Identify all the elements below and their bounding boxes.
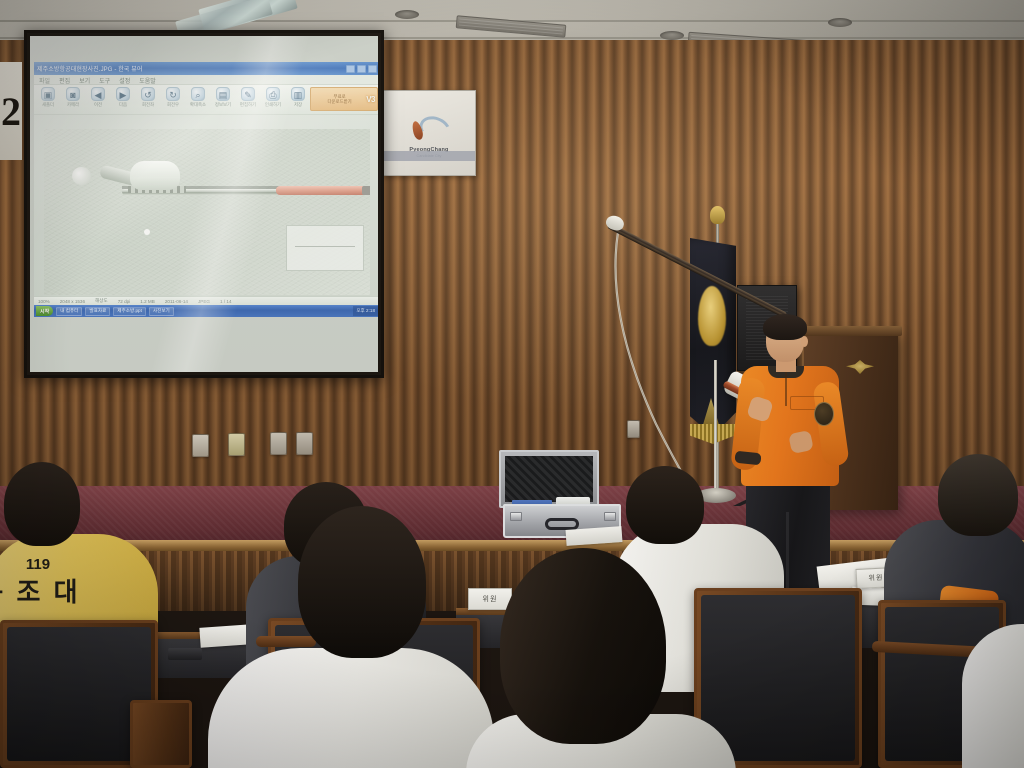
pyeongchang-poster: PyeongChang Candidate City	[382, 90, 476, 176]
probe-end-cap	[362, 186, 370, 195]
ad-line-2: 다운로드받기	[313, 99, 366, 105]
probe-red-section	[276, 186, 370, 195]
toolbar[interactable]: ▣새폴더 ◙카메라 ◀이전 ▶다음 ↺회전좌 ↻회전우 ⌕확대축소 ▤정보보기 …	[34, 85, 378, 115]
menu-item-edit[interactable]: 편집	[59, 76, 70, 84]
jacket-number: 119	[0, 556, 98, 573]
toolbar-button-4[interactable]: ↺회전좌	[136, 87, 160, 108]
print-icon: ⎙	[266, 87, 280, 101]
toolbar-label: 확대축소	[190, 102, 206, 108]
status-bar: 100% 2048 x 1536 해상도 72 dpi 1.2 MB 2011-…	[34, 296, 378, 305]
presenter-hair	[763, 314, 807, 340]
maximize-icon[interactable]	[357, 65, 366, 73]
wall-plate-1[interactable]	[192, 434, 209, 457]
chair-arm-left	[256, 636, 316, 647]
toolbar-button-5[interactable]: ↻회전우	[161, 87, 185, 108]
toolbar-button-7[interactable]: ▤정보보기	[211, 87, 235, 108]
taskbar-item-1[interactable]: 발표자료	[85, 307, 110, 316]
presenter-shoulder-patch-icon	[814, 402, 834, 426]
toolbar-label: 다음	[119, 102, 127, 108]
chair-bottom-left[interactable]	[130, 700, 192, 768]
room-number-sign: 2	[0, 62, 22, 160]
toolbar-button-0[interactable]: ▣새폴더	[36, 87, 60, 108]
status-dimensions: 2048 x 1536	[60, 299, 85, 304]
jacket-label: 구 조 대	[0, 572, 90, 609]
toolbar-button-3[interactable]: ▶다음	[111, 87, 135, 108]
toolbar-label: 카메라	[67, 102, 79, 108]
projected-image: 제주소방항공대현장사진.JPG - 한국 뷰어 파일 편집 보기 도구 설정 도…	[30, 36, 378, 372]
white-shirt	[208, 648, 494, 768]
toolbar-button-8[interactable]: ✎편집하기	[236, 87, 260, 108]
attendee-head	[298, 506, 426, 658]
poster-band	[383, 151, 475, 161]
olympic-bid-logo-icon	[407, 117, 451, 143]
toolbar-label: 편집하기	[240, 102, 256, 108]
rotate-left-icon: ↺	[141, 87, 155, 101]
menu-item-tools[interactable]: 도구	[99, 76, 110, 84]
next-icon: ▶	[116, 87, 130, 101]
window-controls[interactable]	[346, 65, 377, 73]
menu-item-file[interactable]: 파일	[39, 76, 50, 84]
menu-item-settings[interactable]: 설정	[119, 76, 130, 84]
probe-sensor-head	[130, 161, 180, 190]
attendee-head	[626, 466, 704, 544]
window-title: 제주소방항공대현장사진.JPG - 한국 뷰어	[37, 64, 142, 73]
camera-icon: ◙	[66, 87, 80, 101]
recessed-light-icon	[828, 18, 852, 27]
taskbar-item-0[interactable]: 내 컴퓨터	[56, 307, 82, 316]
wall-plate-2[interactable]	[228, 433, 245, 456]
toolbar-label: 저장	[294, 102, 302, 108]
toolbar-button-6[interactable]: ⌕확대축소	[186, 87, 210, 108]
taskbar-item-3[interactable]: 사진보기	[149, 307, 174, 316]
device-cable	[612, 228, 734, 498]
flag-finial-icon	[710, 206, 725, 224]
start-button[interactable]: 시작	[36, 306, 53, 316]
info-icon: ▤	[216, 87, 230, 101]
toolbar-button-2[interactable]: ◀이전	[86, 87, 110, 108]
displayed-photo	[44, 129, 370, 295]
case-foam-padding	[505, 456, 593, 502]
toolbar-label: 정보보기	[215, 102, 231, 108]
toolbar-button-9[interactable]: ⎙인쇄하기	[261, 87, 285, 108]
case-latch-right[interactable]	[604, 512, 616, 521]
viewer-canvas: 100% 2048 x 1536 해상도 72 dpi 1.2 MB 2011-…	[34, 115, 378, 317]
case-handle[interactable]	[545, 518, 579, 530]
status-resolution-label: 해상도	[95, 298, 108, 304]
menu-item-help[interactable]: 도움말	[139, 76, 156, 84]
remote-control[interactable]	[168, 648, 202, 660]
toolbar-label: 이전	[94, 102, 102, 108]
zoom-icon: ⌕	[191, 87, 205, 101]
status-index: 1 / 14	[220, 299, 232, 304]
status-date: 2011-06-14	[165, 299, 188, 304]
ad-banner[interactable]: 무료로 다운로드받기 V3	[310, 87, 378, 111]
paper-on-desk-left	[199, 624, 252, 648]
attendee-head	[938, 454, 1018, 536]
close-icon[interactable]	[368, 65, 377, 73]
edit-icon: ✎	[241, 87, 255, 101]
rotate-right-icon: ↻	[166, 87, 180, 101]
ad-brand-mark: V3	[366, 95, 375, 104]
window-titlebar: 제주소방항공대현장사진.JPG - 한국 뷰어	[34, 62, 378, 75]
photo-overlay-box	[286, 225, 364, 271]
toolbar-label: 새폴더	[42, 102, 54, 108]
folder-new-icon: ▣	[41, 87, 55, 101]
status-filesize: 1.2 MB	[140, 299, 155, 304]
projection-screen: 제주소방항공대현장사진.JPG - 한국 뷰어 파일 편집 보기 도구 설정 도…	[24, 30, 384, 378]
prev-icon: ◀	[91, 87, 105, 101]
toolbar-label: 인쇄하기	[265, 102, 281, 108]
toolbar-button-10[interactable]: ▥저장	[286, 87, 310, 108]
image-viewer-window: 제주소방항공대현장사진.JPG - 한국 뷰어 파일 편집 보기 도구 설정 도…	[34, 62, 378, 317]
case-latch-left[interactable]	[510, 512, 522, 521]
menu-bar[interactable]: 파일 편집 보기 도구 설정 도움말	[34, 75, 378, 85]
probe-tip	[72, 167, 91, 185]
photo-scene: PyeongChang Candidate City 제주소방항공대현장사진.J…	[0, 0, 1024, 768]
toolbar-label: 회전좌	[142, 102, 154, 108]
windows-taskbar[interactable]: 시작 내 컴퓨터 발표자료 제주소방.ppt 사진보기 오후 2:18	[34, 305, 378, 317]
status-zoom: 100%	[38, 299, 50, 304]
taskbar-item-2[interactable]: 제주소방.ppt	[113, 307, 146, 316]
lectern-top	[798, 326, 902, 336]
save-icon: ▥	[291, 87, 305, 101]
attendee-head	[500, 548, 666, 744]
wall-plate-4[interactable]	[296, 432, 313, 455]
toolbar-label: 회전우	[167, 102, 179, 108]
minimize-icon[interactable]	[346, 65, 355, 73]
recessed-light-icon	[395, 10, 419, 19]
status-dpi: 72 dpi	[118, 299, 131, 304]
menu-item-view[interactable]: 보기	[79, 76, 90, 84]
wall-plate-3[interactable]	[270, 432, 287, 455]
status-format: JPEG	[198, 299, 210, 304]
name-placard-1: 위원	[468, 588, 512, 610]
attendee-head	[4, 462, 80, 546]
toolbar-button-1[interactable]: ◙카메라	[61, 87, 85, 108]
system-tray-clock[interactable]: 오후 2:18	[353, 306, 378, 316]
recessed-light-icon	[660, 31, 684, 40]
